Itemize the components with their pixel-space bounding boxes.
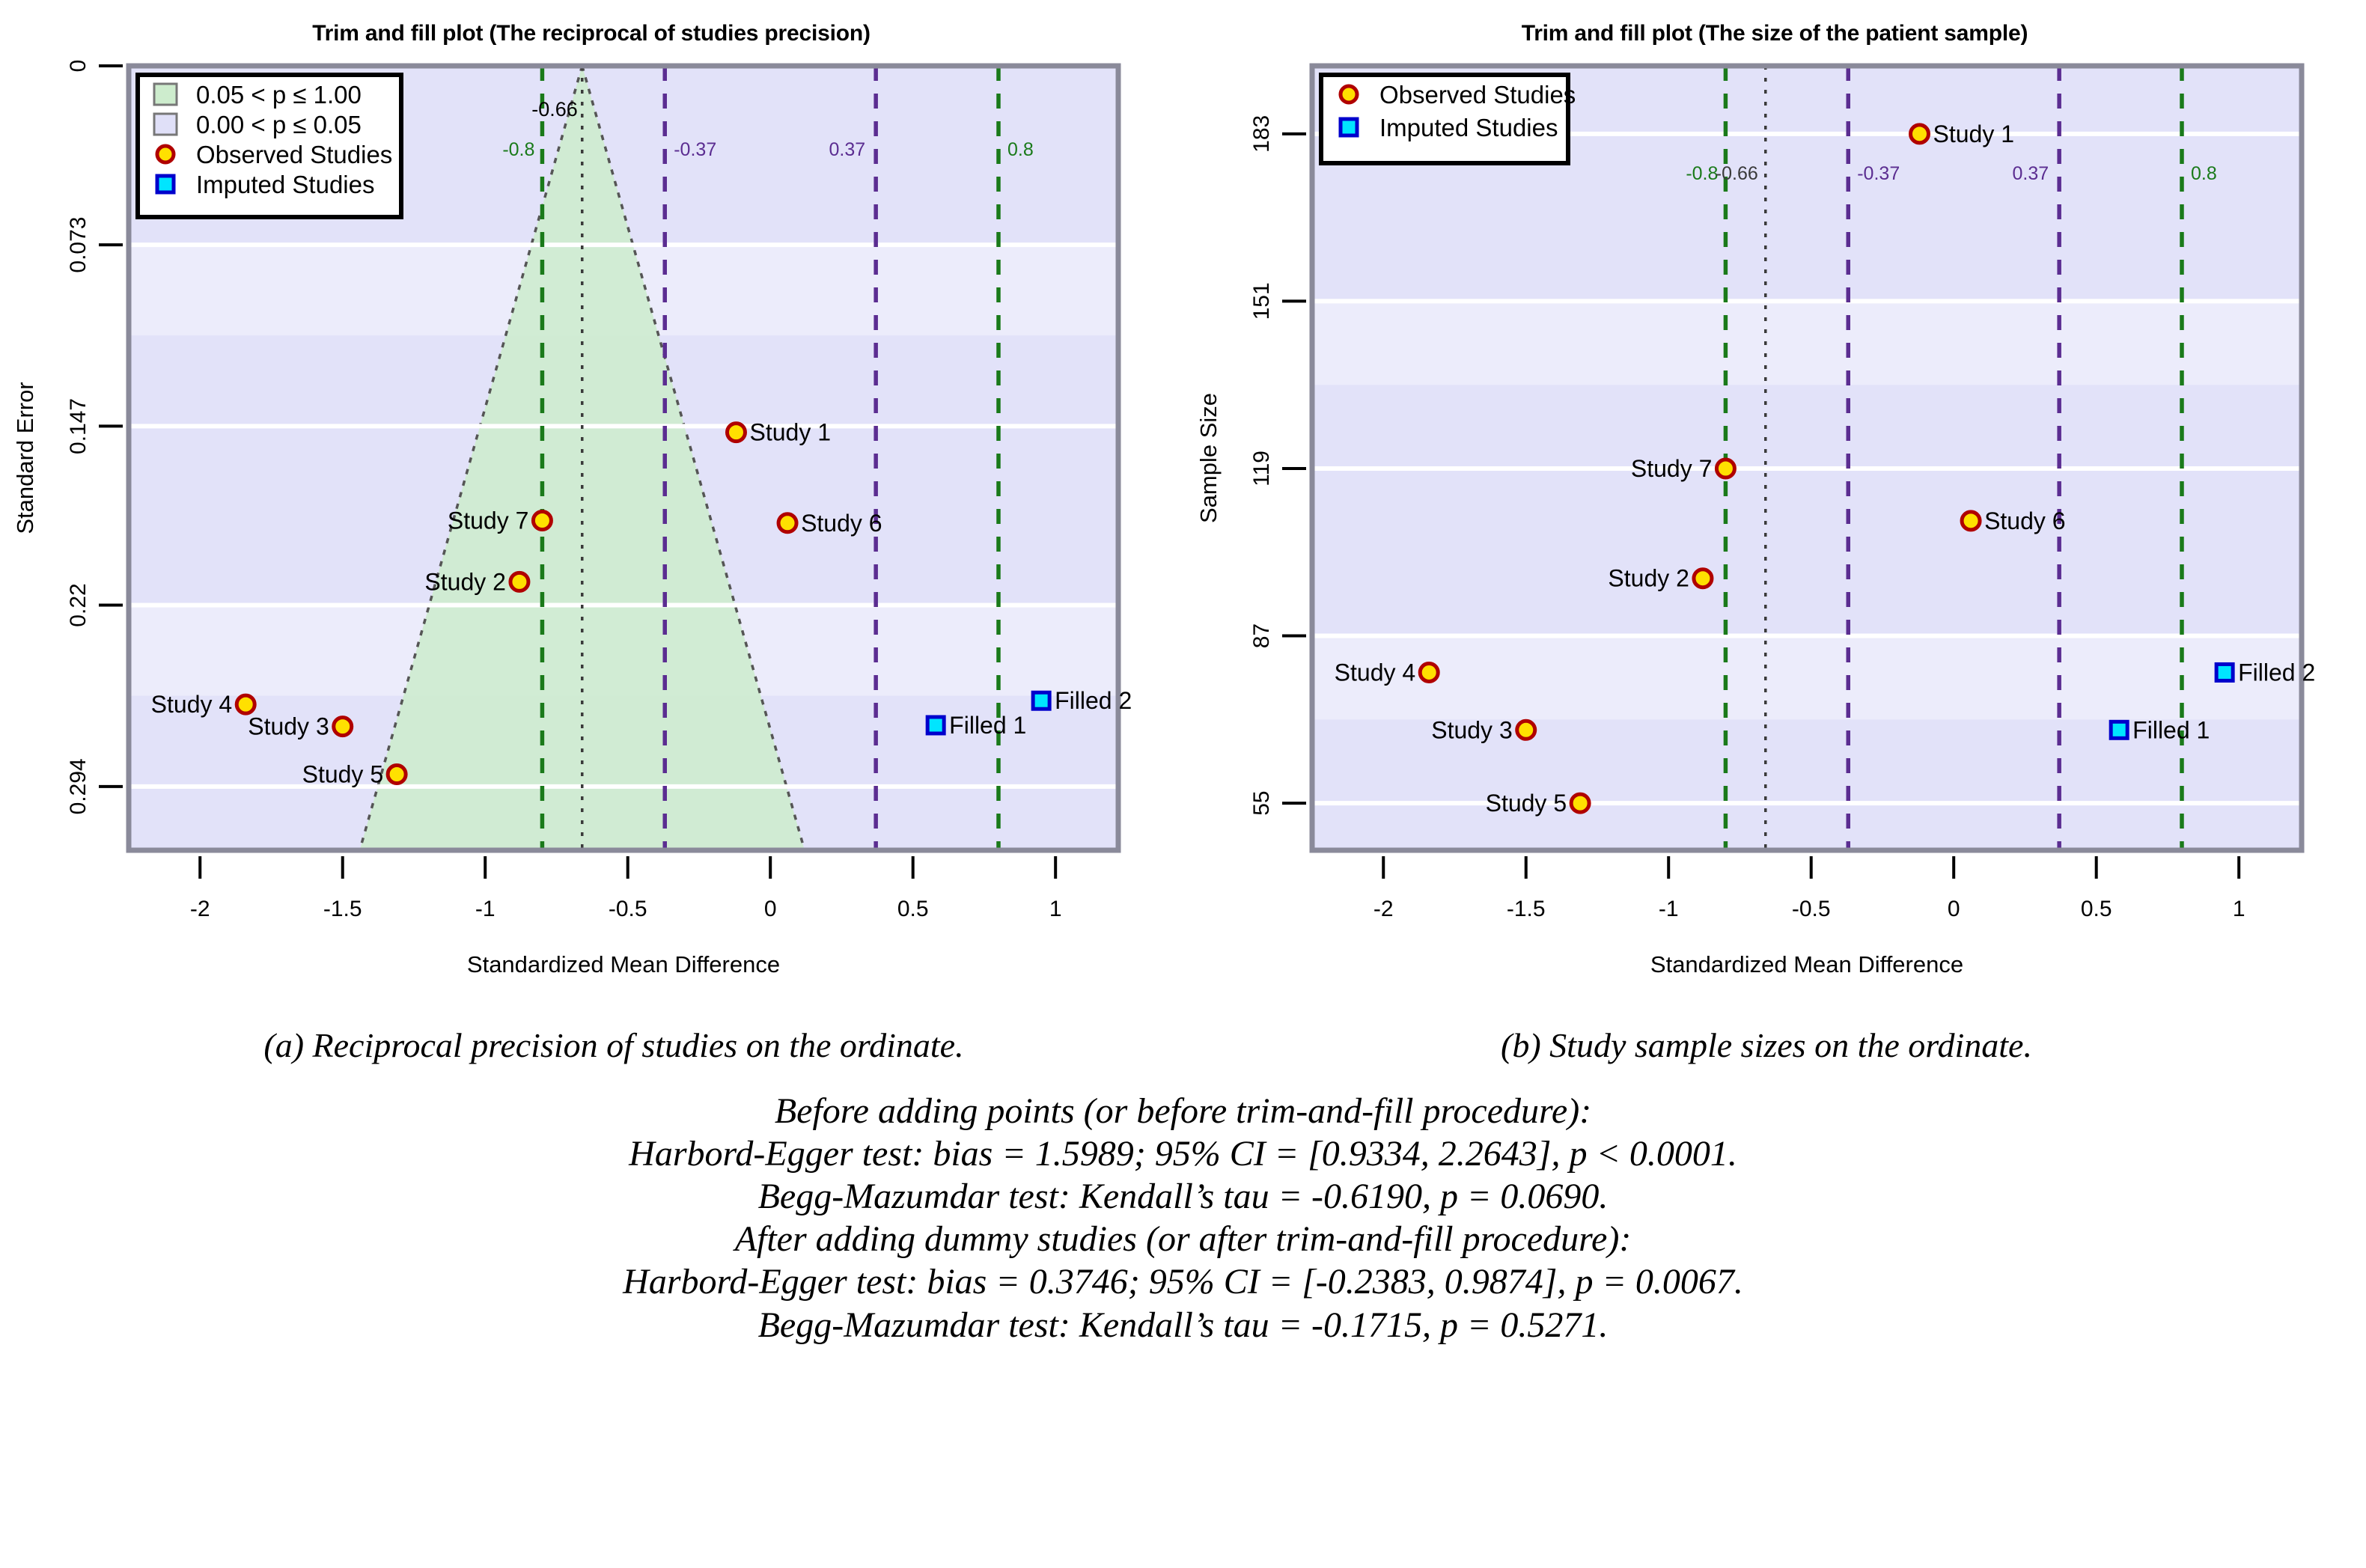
imputed-study-marker (157, 176, 174, 192)
plot-canvas-precision: -0.8-0.66-0.370.370.8-2-1.5-1-0.500.51St… (0, 0, 1183, 1018)
legend-label: 0.00 < p ≤ 0.05 (196, 111, 362, 138)
y-tick-label-0: 0 (66, 60, 91, 73)
caption-line-2: Harbord-Egger test: bias = 1.5989; 95% C… (0, 1132, 2366, 1175)
observed-study-marker (1910, 125, 1928, 143)
data-point-label: Study 7 (1631, 455, 1713, 482)
observed-study-marker (237, 695, 254, 713)
observed-study-marker (778, 514, 796, 532)
y-tick-label-3: 0.22 (66, 583, 91, 626)
plot-canvas-samplesize: -0.8-0.66-0.370.370.8-2-1.5-1-0.500.51St… (1183, 0, 2366, 1018)
data-point-label: Study 6 (1984, 507, 2066, 534)
x-tick-label-6: 1 (2233, 897, 2245, 921)
observed-study-marker (1962, 512, 1980, 530)
imputed-study-marker (2111, 722, 2127, 738)
data-point-label: Filled 2 (2238, 659, 2315, 686)
caption-line-3: Begg-Mazumdar test: Kendall’s tau = -0.6… (0, 1175, 2366, 1218)
data-point-label: Study 5 (302, 760, 384, 787)
figure-row: Trim and fill plot (The reciprocal of st… (0, 0, 2366, 1018)
imputed-study-marker (1033, 692, 1049, 709)
reference-label-0.37: 0.37 (829, 139, 865, 160)
contour-lavender-swatch (154, 114, 177, 135)
observed-study-marker (727, 424, 745, 442)
x-tick-label-0: -2 (190, 897, 210, 921)
legend: Observed StudiesImputed Studies (1321, 75, 1576, 163)
reference-label-0.37: 0.37 (2012, 163, 2049, 184)
panel-samplesize: Trim and fill plot (The size of the pati… (1183, 0, 2366, 1018)
legend-label: Observed Studies (1379, 81, 1576, 109)
x-axis-title: Standardized Mean Difference (1650, 951, 1963, 977)
observed-study-marker (1420, 663, 1438, 681)
x-tick-label-6: 1 (1049, 897, 1062, 921)
reference-label--0.37: -0.37 (674, 139, 716, 160)
x-tick-label-5: 0.5 (2081, 897, 2112, 921)
reference-label--0.8: -0.8 (1686, 163, 1718, 184)
data-point-label: Filled 1 (2132, 716, 2210, 743)
data-point-label: Study 5 (1486, 790, 1567, 817)
reference-label--0.37: -0.37 (1857, 163, 1900, 184)
caption-line-4: After adding dummy studies (or after tri… (0, 1218, 2366, 1260)
data-point-label: Study 7 (448, 507, 529, 534)
legend-label: Imputed Studies (1379, 114, 1558, 141)
imputed-study-marker (927, 717, 944, 733)
plot-band (1312, 636, 2302, 720)
data-point-label: Study 6 (801, 510, 882, 537)
data-point-filled-1: Filled 1 (927, 712, 1026, 739)
subcaption-b: (b) Study sample sizes on the ordinate. (1198, 1025, 2335, 1065)
data-point-label: Study 4 (151, 691, 233, 718)
observed-study-marker (1716, 460, 1734, 478)
legend: 0.05 < p ≤ 1.000.00 < p ≤ 0.05Observed S… (138, 75, 401, 217)
x-tick-label-5: 0.5 (897, 897, 929, 921)
y-tick-label-1: 0.073 (66, 217, 91, 273)
legend-label: Imputed Studies (196, 171, 374, 198)
y-tick-label-3: 87 (1249, 623, 1274, 648)
data-point-label: Study 2 (424, 568, 506, 595)
x-tick-label-4: 0 (1948, 897, 1960, 921)
x-tick-label-2: -1 (1659, 897, 1679, 921)
data-point-label: Study 1 (749, 419, 831, 446)
subcaption-a: (a) Reciprocal precision of studies on t… (30, 1025, 1198, 1065)
data-point-label: Study 3 (248, 713, 329, 740)
x-tick-label-0: -2 (1373, 897, 1394, 921)
x-tick-label-2: -1 (475, 897, 496, 921)
observed-study-marker (334, 718, 352, 736)
observed-study-marker (157, 146, 174, 162)
reference-label--0.66: -0.66 (1716, 163, 1758, 184)
observed-study-marker (1341, 86, 1357, 103)
data-point-filled-1: Filled 1 (2111, 716, 2210, 743)
data-point-label: Study 1 (1933, 121, 2014, 147)
caption-line-1: Before adding points (or before trim-and… (0, 1090, 2366, 1132)
imputed-study-marker (2216, 664, 2233, 680)
observed-study-marker (510, 573, 528, 591)
figure-caption: (a) Reciprocal precision of studies on t… (0, 1025, 2366, 1346)
data-point-filled-2: Filled 2 (2216, 659, 2315, 686)
y-axis-title: Standard Error (12, 382, 38, 534)
y-tick-label-4: 55 (1249, 790, 1274, 815)
x-tick-label-4: 0 (764, 897, 777, 921)
reference-label-0.8: 0.8 (1007, 139, 1034, 160)
x-tick-label-1: -1.5 (323, 897, 362, 921)
y-axis-title: Sample Size (1195, 393, 1222, 523)
observed-study-marker (1571, 794, 1589, 812)
reference-label-0.8: 0.8 (2191, 163, 2217, 184)
observed-study-marker (388, 765, 406, 783)
data-point-label: Study 3 (1431, 716, 1513, 743)
figure-page: Trim and fill plot (The reciprocal of st… (0, 0, 2366, 1568)
data-point-label: Filled 2 (1055, 687, 1132, 714)
caption-line-6: Begg-Mazumdar test: Kendall’s tau = -0.1… (0, 1304, 2366, 1346)
y-tick-label-2: 119 (1249, 451, 1274, 486)
contour-green-swatch (154, 84, 177, 105)
y-tick-label-4: 0.294 (66, 758, 91, 814)
legend-label: Observed Studies (196, 141, 392, 168)
subcaption-row: (a) Reciprocal precision of studies on t… (0, 1025, 2366, 1090)
x-axis-title: Standardized Mean Difference (467, 951, 780, 977)
y-tick-label-2: 0.147 (66, 398, 91, 454)
reference-label--0.8: -0.8 (502, 139, 534, 160)
observed-study-marker (1694, 570, 1712, 588)
panel-precision: Trim and fill plot (The reciprocal of st… (0, 0, 1183, 1018)
data-point-label: Study 4 (1335, 659, 1416, 686)
x-tick-label-3: -0.5 (609, 897, 647, 921)
observed-study-marker (533, 512, 551, 530)
x-tick-label-3: -0.5 (1792, 897, 1831, 921)
data-point-label: Filled 1 (949, 712, 1026, 739)
data-point-filled-2: Filled 2 (1033, 687, 1132, 714)
x-tick-label-1: -1.5 (1507, 897, 1546, 921)
caption-line-5: Harbord-Egger test: bias = 0.3746; 95% C… (0, 1260, 2366, 1303)
data-point-label: Study 2 (1608, 565, 1689, 592)
y-tick-label-1: 151 (1249, 282, 1274, 320)
observed-study-marker (1517, 721, 1535, 739)
reference-label--0.66: -0.66 (531, 98, 578, 121)
legend-label: 0.05 < p ≤ 1.00 (196, 81, 362, 109)
plot-band (1312, 301, 2302, 385)
imputed-study-marker (1341, 119, 1357, 135)
y-tick-label-0: 183 (1249, 115, 1274, 153)
